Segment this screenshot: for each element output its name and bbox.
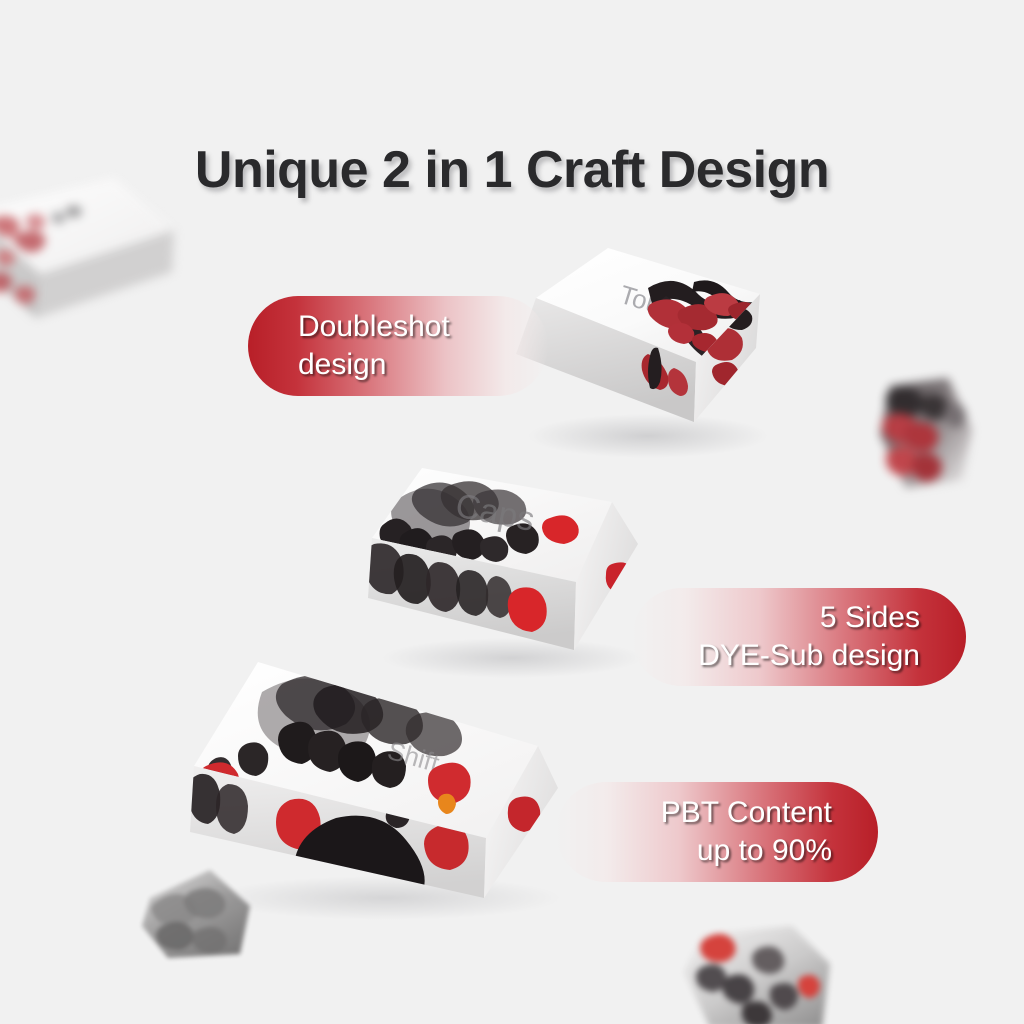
keycap-top-left (0, 168, 196, 358)
badge-dyesub: 5 Sides DYE-Sub design (632, 588, 966, 686)
badge-dyesub-line2: DYE-Sub design (632, 637, 920, 675)
badge-pbt: PBT Content up to 90% (556, 782, 878, 882)
keycap-right (866, 368, 996, 498)
keycap-bottom-right (664, 918, 844, 1024)
badge-pbt-line2: up to 90% (556, 832, 832, 870)
badge-pbt-line1: PBT Content (556, 794, 832, 832)
badge-doubleshot-line2: design (298, 346, 548, 384)
badge-dyesub-line1: 5 Sides (632, 599, 920, 637)
keycap-caps: Caps (362, 446, 672, 678)
keycap-shift: Shift (186, 648, 606, 918)
marketing-banner: Unique 2 in 1 Craft Design (0, 0, 1024, 1024)
badge-doubleshot-line1: Doubleshot (298, 308, 548, 346)
badge-doubleshot: Doubleshot design (248, 296, 548, 396)
